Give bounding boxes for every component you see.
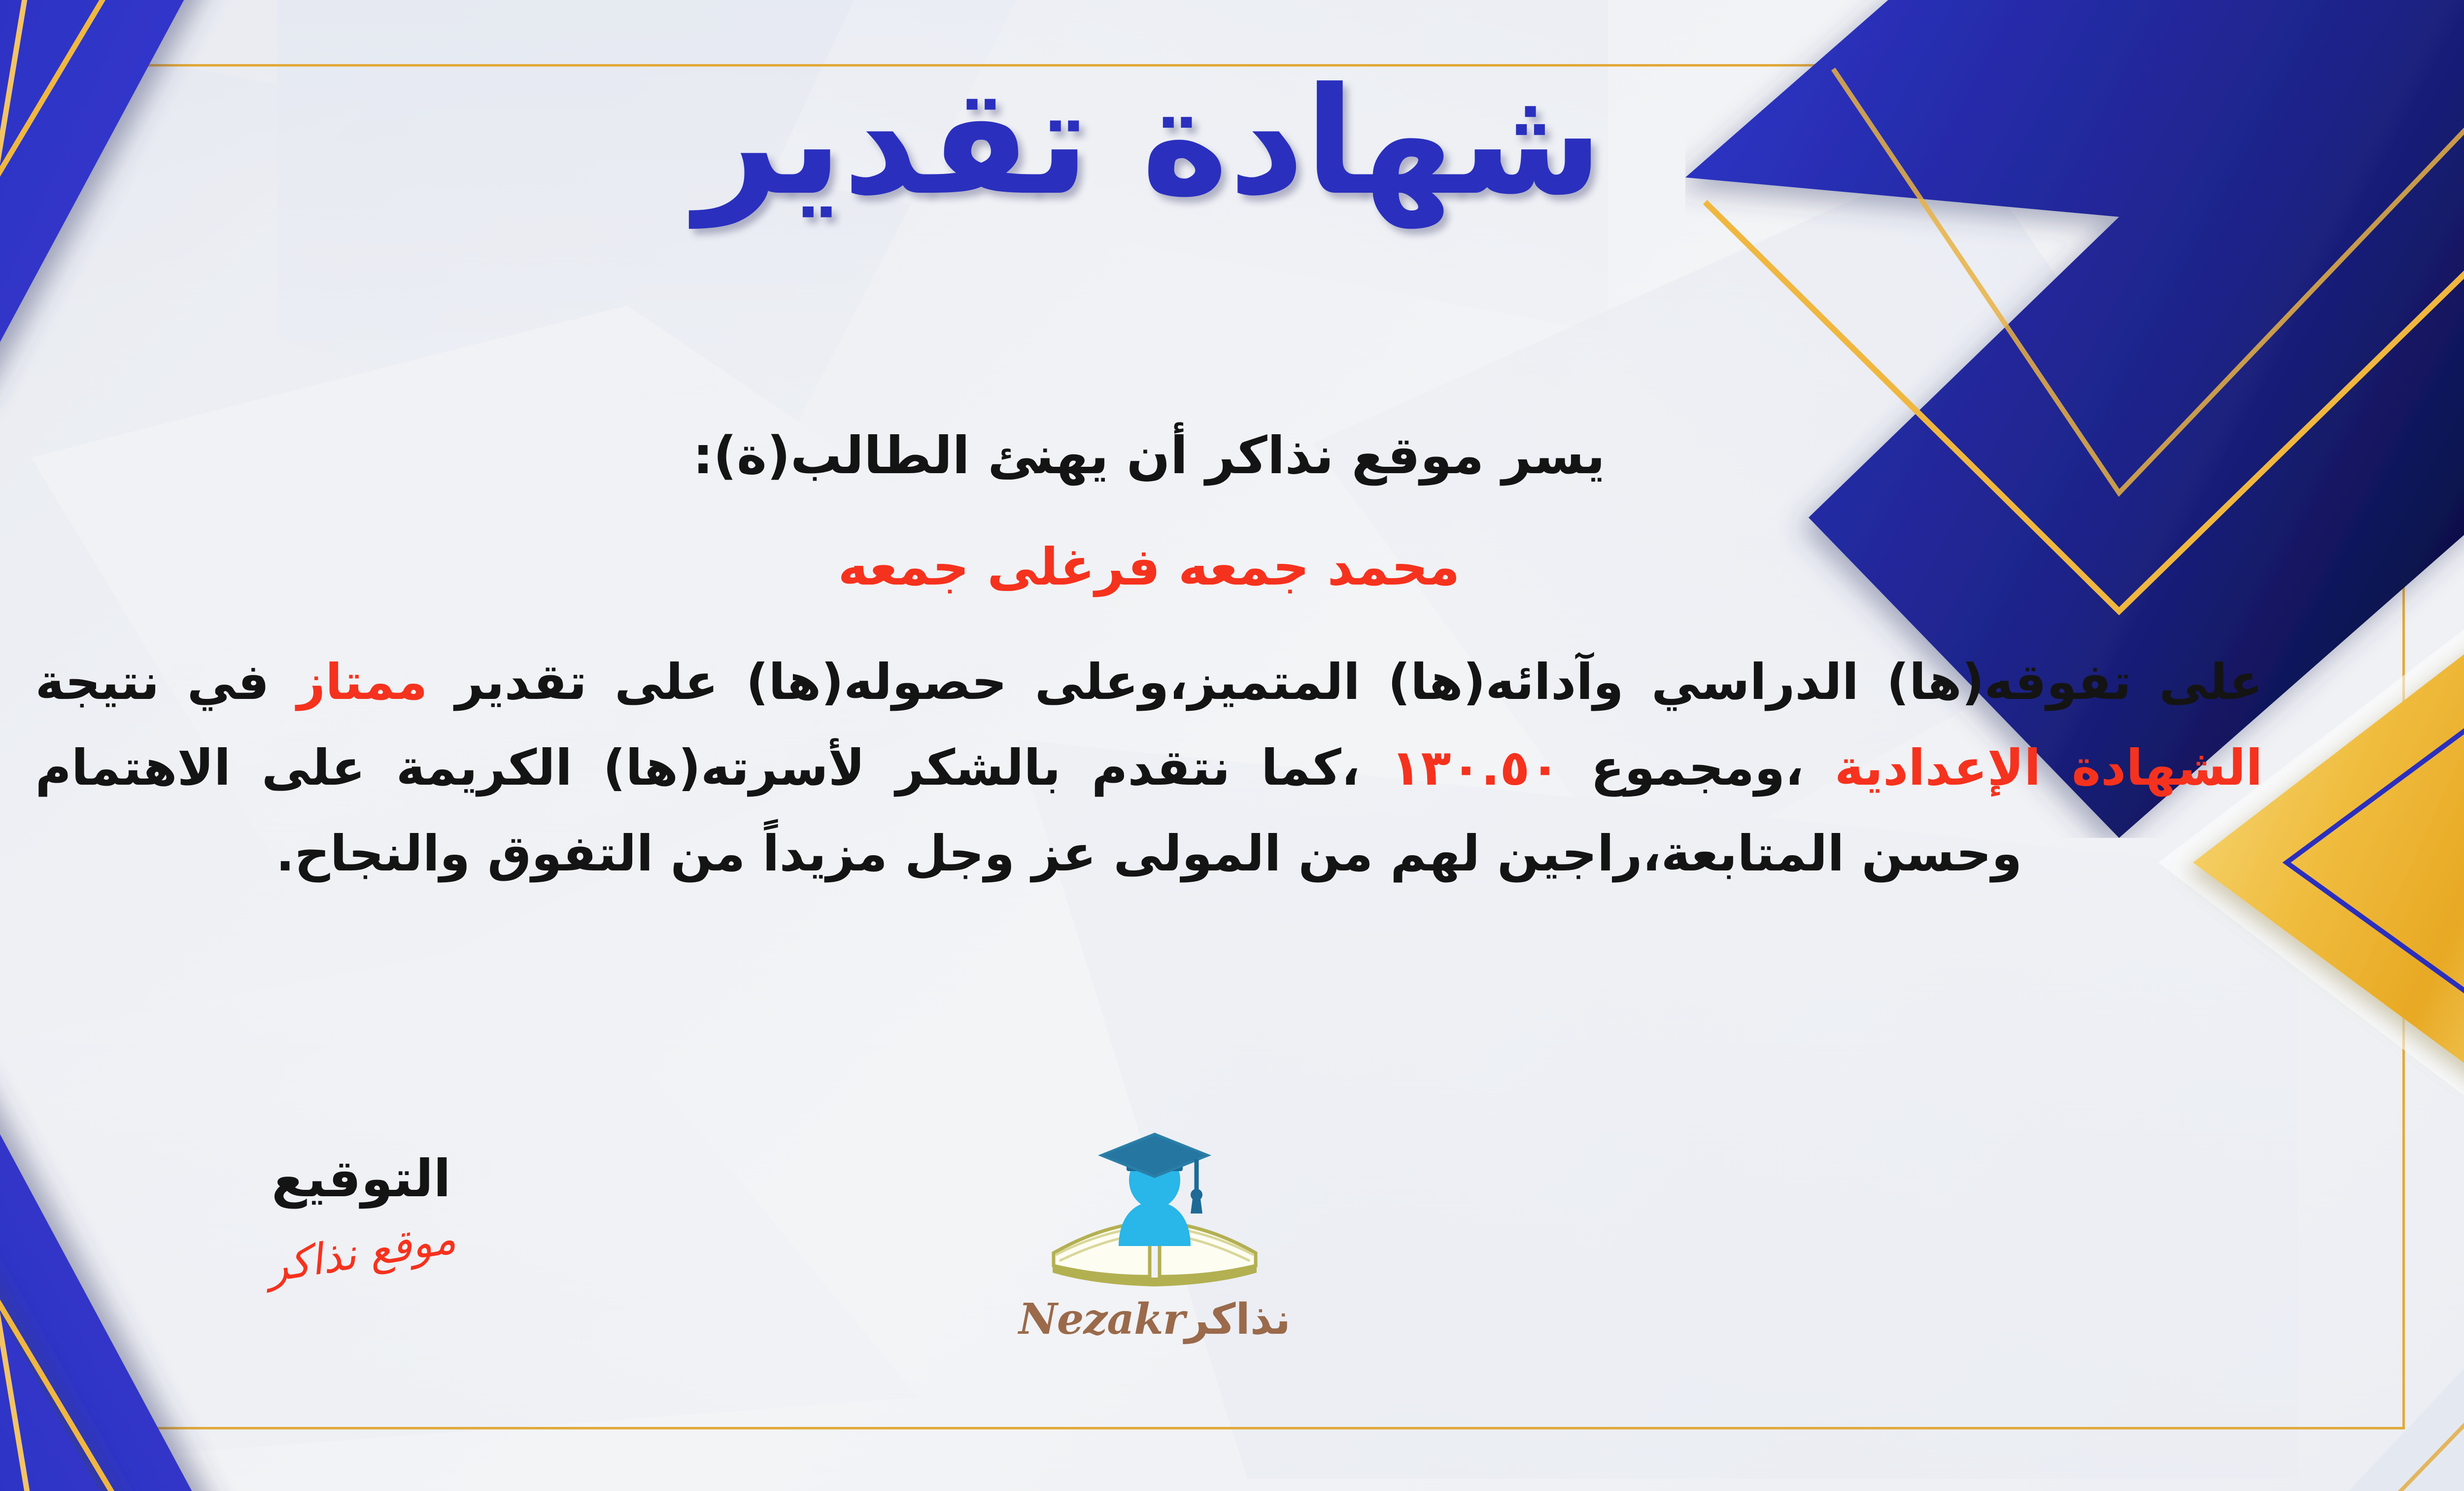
site-logo: Nezakrنذاكر	[982, 1129, 1327, 1344]
corner-ornament-bottom-right	[2070, 1176, 2464, 1491]
signature-block: التوقيع موقع نذاكر	[208, 1148, 514, 1278]
intro-line: يسر موقع نذاكر أن يهنئ الطالب(ة):	[0, 414, 2316, 497]
certificate-canvas: شهادة تقدير يسر موقع نذاكر أن يهنئ الطال…	[0, 0, 2464, 1491]
logo-arabic: نذاكر	[1185, 1295, 1291, 1344]
logo-wordmark: Nezakrنذاكر	[982, 1294, 1327, 1344]
award-clause-2: في نتيجة	[35, 653, 270, 711]
graduate-book-icon	[1049, 1129, 1261, 1291]
score-value: ١٣٠.٥٠	[1391, 739, 1560, 797]
grade-value: ممتاز	[297, 653, 428, 711]
student-name: محمد جمعه فرغلى جمعه	[0, 525, 2316, 608]
logo-latin: Nezakr	[1019, 1294, 1185, 1344]
award-clause-3: ،ومجموع	[1591, 739, 1804, 797]
certificate-body: يسر موقع نذاكر أن يهنئ الطالب(ة): محمد ج…	[0, 414, 2316, 897]
award-paragraph: على تفوقه(ها) الدراسي وآدائه(ها) المتميز…	[35, 639, 2263, 897]
award-clause-1: على تفوقه(ها) الدراسي وآدائه(ها) المتميز…	[455, 653, 2263, 711]
signature-label: التوقيع	[208, 1148, 514, 1209]
exam-name: الشهادة الإعدادية	[1835, 739, 2263, 797]
certificate-title: شهادة تقدير	[0, 49, 2464, 234]
